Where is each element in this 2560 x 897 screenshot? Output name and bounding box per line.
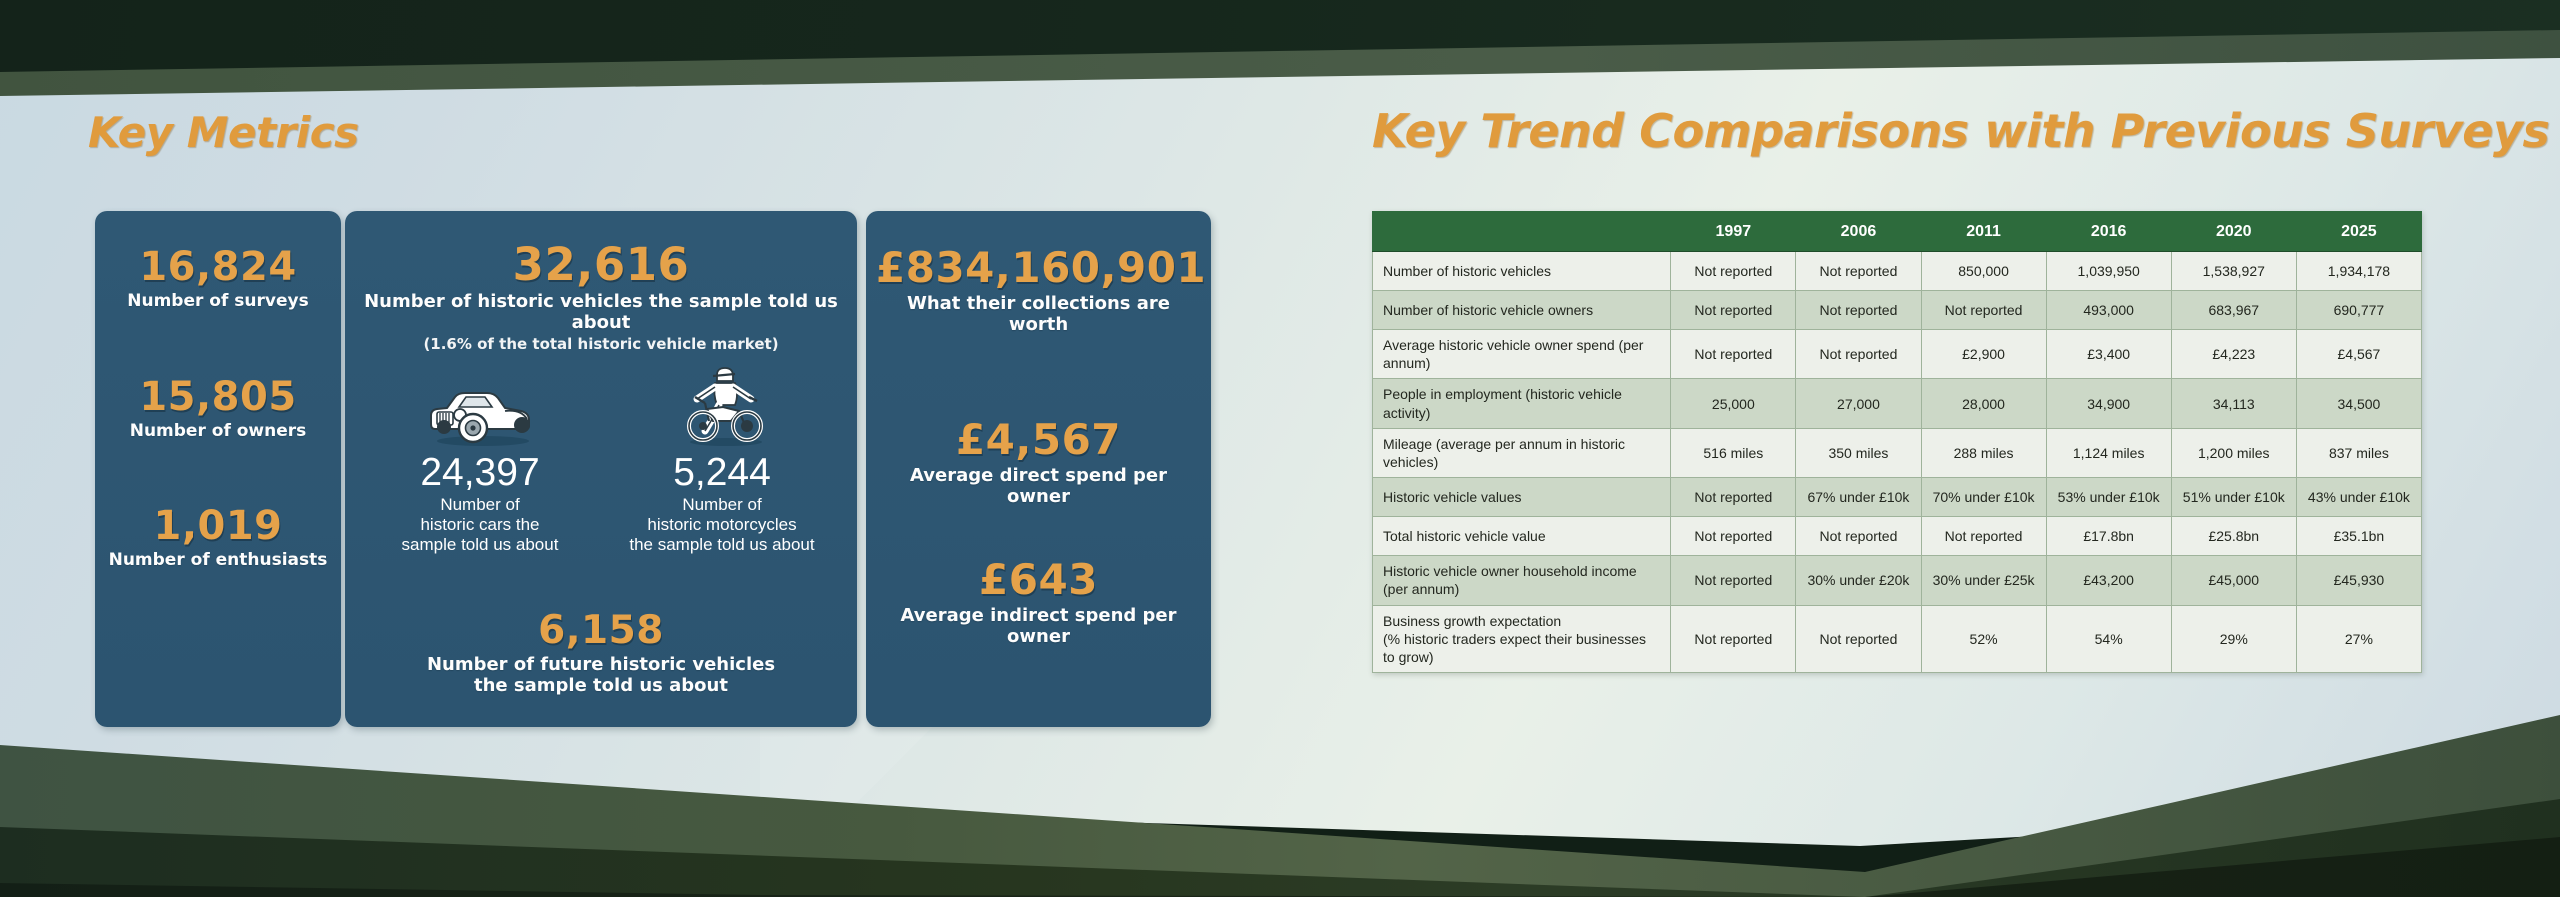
- table-cell-2016: 34,900: [2046, 379, 2171, 428]
- table-cell-2011: £2,900: [1921, 330, 2046, 379]
- table-cell-2016: £43,200: [2046, 556, 2171, 605]
- table-cell-2020: £4,223: [2171, 330, 2296, 379]
- metric-label: Number of enthusiasts: [105, 550, 331, 570]
- table-header: 199720062011201620202025: [1373, 212, 2422, 252]
- table-row-label: Business growth expectation(% historic t…: [1373, 605, 1671, 673]
- table-row: Business growth expectation(% historic t…: [1373, 605, 2422, 673]
- table-cell-2020: 34,113: [2171, 379, 2296, 428]
- table-cell-2016: 493,000: [2046, 291, 2171, 330]
- metric-value: £834,160,901: [876, 247, 1201, 289]
- table-cell-2016: 54%: [2046, 605, 2171, 673]
- table-row: Number of historic vehiclesNot reportedN…: [1373, 252, 2422, 291]
- table-row: Mileage (average per annum in historic v…: [1373, 428, 2422, 477]
- table-cell-2006: 27,000: [1796, 379, 1921, 428]
- table-cell-2011: 52%: [1921, 605, 2046, 673]
- table-cell-2025: 27%: [2296, 605, 2421, 673]
- table-col-header-2020: 2020: [2171, 212, 2296, 252]
- table-cell-2011: 850,000: [1921, 252, 2046, 291]
- table-row: Average historic vehicle owner spend (pe…: [1373, 330, 2422, 379]
- table-cell-2020: 51% under £10k: [2171, 478, 2296, 517]
- metric-historic-vehicles-reported: 32,616 Number of historic vehicles the s…: [345, 242, 857, 353]
- metric-collections-worth: £834,160,901 What their collections are …: [866, 247, 1211, 335]
- metric-label: Number ofhistoric motorcyclesthe sample …: [622, 495, 822, 555]
- metric-historic-motorcycles: 5,244 Number ofhistoric motorcyclesthe s…: [622, 363, 822, 555]
- table-cell-2006: Not reported: [1796, 517, 1921, 556]
- table-cell-1997: Not reported: [1671, 517, 1796, 556]
- table-body: Number of historic vehiclesNot reportedN…: [1373, 252, 2422, 673]
- table-cell-2025: £35.1bn: [2296, 517, 2421, 556]
- metrics-card-surveys: 16,824 Number of surveys 15,805 Number o…: [95, 211, 341, 727]
- metric-value: 5,244: [622, 451, 822, 495]
- table-cell-1997: Not reported: [1671, 556, 1796, 605]
- table-corner-cell: [1373, 212, 1671, 252]
- metric-value: 6,158: [355, 611, 847, 650]
- metric-avg-indirect-spend: £643 Average indirect spend per owner: [866, 559, 1211, 647]
- table-cell-2006: Not reported: [1796, 252, 1921, 291]
- table-cell-2016: 53% under £10k: [2046, 478, 2171, 517]
- table-cell-2011: Not reported: [1921, 517, 2046, 556]
- table-row-label: Historic vehicle values: [1373, 478, 1671, 517]
- table-cell-2025: 837 miles: [2296, 428, 2421, 477]
- key-metrics-title: Key Metrics: [88, 108, 359, 157]
- table-cell-2025: 690,777: [2296, 291, 2421, 330]
- metric-number-of-enthusiasts: 1,019 Number of enthusiasts: [95, 506, 341, 570]
- metric-label: Average direct spend per owner: [876, 465, 1201, 507]
- metric-value: 15,805: [105, 377, 331, 417]
- table-row: People in employment (historic vehicle a…: [1373, 379, 2422, 428]
- table-cell-1997: Not reported: [1671, 252, 1796, 291]
- table-row-label: Number of historic vehicles: [1373, 252, 1671, 291]
- metric-value: 1,019: [105, 506, 331, 546]
- key-trend-comparisons-table: 199720062011201620202025 Number of histo…: [1372, 211, 2422, 673]
- table-cell-1997: 516 miles: [1671, 428, 1796, 477]
- table-cell-2011: 70% under £10k: [1921, 478, 2046, 517]
- table-cell-2016: 1,039,950: [2046, 252, 2171, 291]
- metrics-card-vehicles: 32,616 Number of historic vehicles the s…: [345, 211, 857, 727]
- table-col-header-2006: 2006: [1796, 212, 1921, 252]
- table-row-note: (% historic traders expect their busines…: [1383, 630, 1660, 666]
- table-cell-2011: 30% under £25k: [1921, 556, 2046, 605]
- metric-value: 16,824: [105, 247, 331, 287]
- classic-car-icon: [380, 363, 580, 449]
- table-cell-2006: 67% under £10k: [1796, 478, 1921, 517]
- metric-label: What their collections are worth: [876, 293, 1201, 335]
- metric-label: Number of owners: [105, 421, 331, 441]
- table-cell-2006: Not reported: [1796, 605, 1921, 673]
- metric-value: 32,616: [355, 242, 847, 287]
- metric-number-of-owners: 15,805 Number of owners: [95, 377, 341, 441]
- metric-value: £643: [876, 559, 1201, 601]
- table-cell-2025: 34,500: [2296, 379, 2421, 428]
- table-cell-2011: Not reported: [1921, 291, 2046, 330]
- table-row-label: Historic vehicle owner household income …: [1373, 556, 1671, 605]
- table-header-row: 199720062011201620202025: [1373, 212, 2422, 252]
- table-cell-2025: £45,930: [2296, 556, 2421, 605]
- infographic-slide: Key Metrics 16,824 Number of surveys 15,…: [0, 0, 2560, 897]
- table-cell-2020: £45,000: [2171, 556, 2296, 605]
- table-row: Total historic vehicle valueNot reported…: [1373, 517, 2422, 556]
- table-cell-1997: Not reported: [1671, 478, 1796, 517]
- table-cell-2020: 29%: [2171, 605, 2296, 673]
- table-col-header-2025: 2025: [2296, 212, 2421, 252]
- table-cell-2006: Not reported: [1796, 330, 1921, 379]
- key-trend-comparisons-title: Key Trend Comparisons with Previous Surv…: [1372, 104, 2549, 158]
- metric-future-historic-vehicles: 6,158 Number of future historic vehicles…: [345, 611, 857, 696]
- table-row: Number of historic vehicle ownersNot rep…: [1373, 291, 2422, 330]
- metric-label: Number of historic vehicles the sample t…: [355, 291, 847, 333]
- table-col-header-1997: 1997: [1671, 212, 1796, 252]
- table-cell-2006: Not reported: [1796, 291, 1921, 330]
- metric-value: £4,567: [876, 419, 1201, 461]
- metric-historic-cars: 24,397 Number ofhistoric cars thesample …: [380, 363, 580, 555]
- table-row-label: Total historic vehicle value: [1373, 517, 1671, 556]
- table-cell-2025: £4,567: [2296, 330, 2421, 379]
- table-cell-2020: 683,967: [2171, 291, 2296, 330]
- table-cell-1997: Not reported: [1671, 330, 1796, 379]
- metric-label: Number of surveys: [105, 291, 331, 311]
- table-cell-2006: 30% under £20k: [1796, 556, 1921, 605]
- metric-number-of-surveys: 16,824 Number of surveys: [95, 247, 341, 311]
- table-row-label: Average historic vehicle owner spend (pe…: [1373, 330, 1671, 379]
- vehicle-breakdown: 24,397 Number ofhistoric cars thesample …: [345, 363, 857, 555]
- table-cell-2020: £25.8bn: [2171, 517, 2296, 556]
- table-cell-2011: 28,000: [1921, 379, 2046, 428]
- table-row-label: Number of historic vehicle owners: [1373, 291, 1671, 330]
- classic-motorcycle-icon: [622, 363, 822, 449]
- table-cell-2025: 1,934,178: [2296, 252, 2421, 291]
- metric-label: Number of future historic vehiclesthe sa…: [355, 654, 847, 696]
- table-row: Historic vehicle valuesNot reported67% u…: [1373, 478, 2422, 517]
- table-cell-2016: £3,400: [2046, 330, 2171, 379]
- table-cell-1997: Not reported: [1671, 605, 1796, 673]
- table-cell-2016: £17.8bn: [2046, 517, 2171, 556]
- table-row-label: Mileage (average per annum in historic v…: [1373, 428, 1671, 477]
- table-cell-2020: 1,538,927: [2171, 252, 2296, 291]
- table-row: Historic vehicle owner household income …: [1373, 556, 2422, 605]
- table-cell-2020: 1,200 miles: [2171, 428, 2296, 477]
- table-col-header-2016: 2016: [2046, 212, 2171, 252]
- table-row-label: People in employment (historic vehicle a…: [1373, 379, 1671, 428]
- table-cell-1997: Not reported: [1671, 291, 1796, 330]
- table-cell-2006: 350 miles: [1796, 428, 1921, 477]
- metric-value: 24,397: [380, 451, 580, 495]
- table-cell-2016: 1,124 miles: [2046, 428, 2171, 477]
- table-cell-1997: 25,000: [1671, 379, 1796, 428]
- table-cell-2025: 43% under £10k: [2296, 478, 2421, 517]
- metric-label: Average indirect spend per owner: [876, 605, 1201, 647]
- metric-avg-direct-spend: £4,567 Average direct spend per owner: [866, 419, 1211, 507]
- metric-sublabel: (1.6% of the total historic vehicle mark…: [355, 335, 847, 353]
- table-cell-2011: 288 miles: [1921, 428, 2046, 477]
- metrics-card-money: £834,160,901 What their collections are …: [866, 211, 1211, 727]
- table-col-header-2011: 2011: [1921, 212, 2046, 252]
- metric-label: Number ofhistoric cars thesample told us…: [380, 495, 580, 555]
